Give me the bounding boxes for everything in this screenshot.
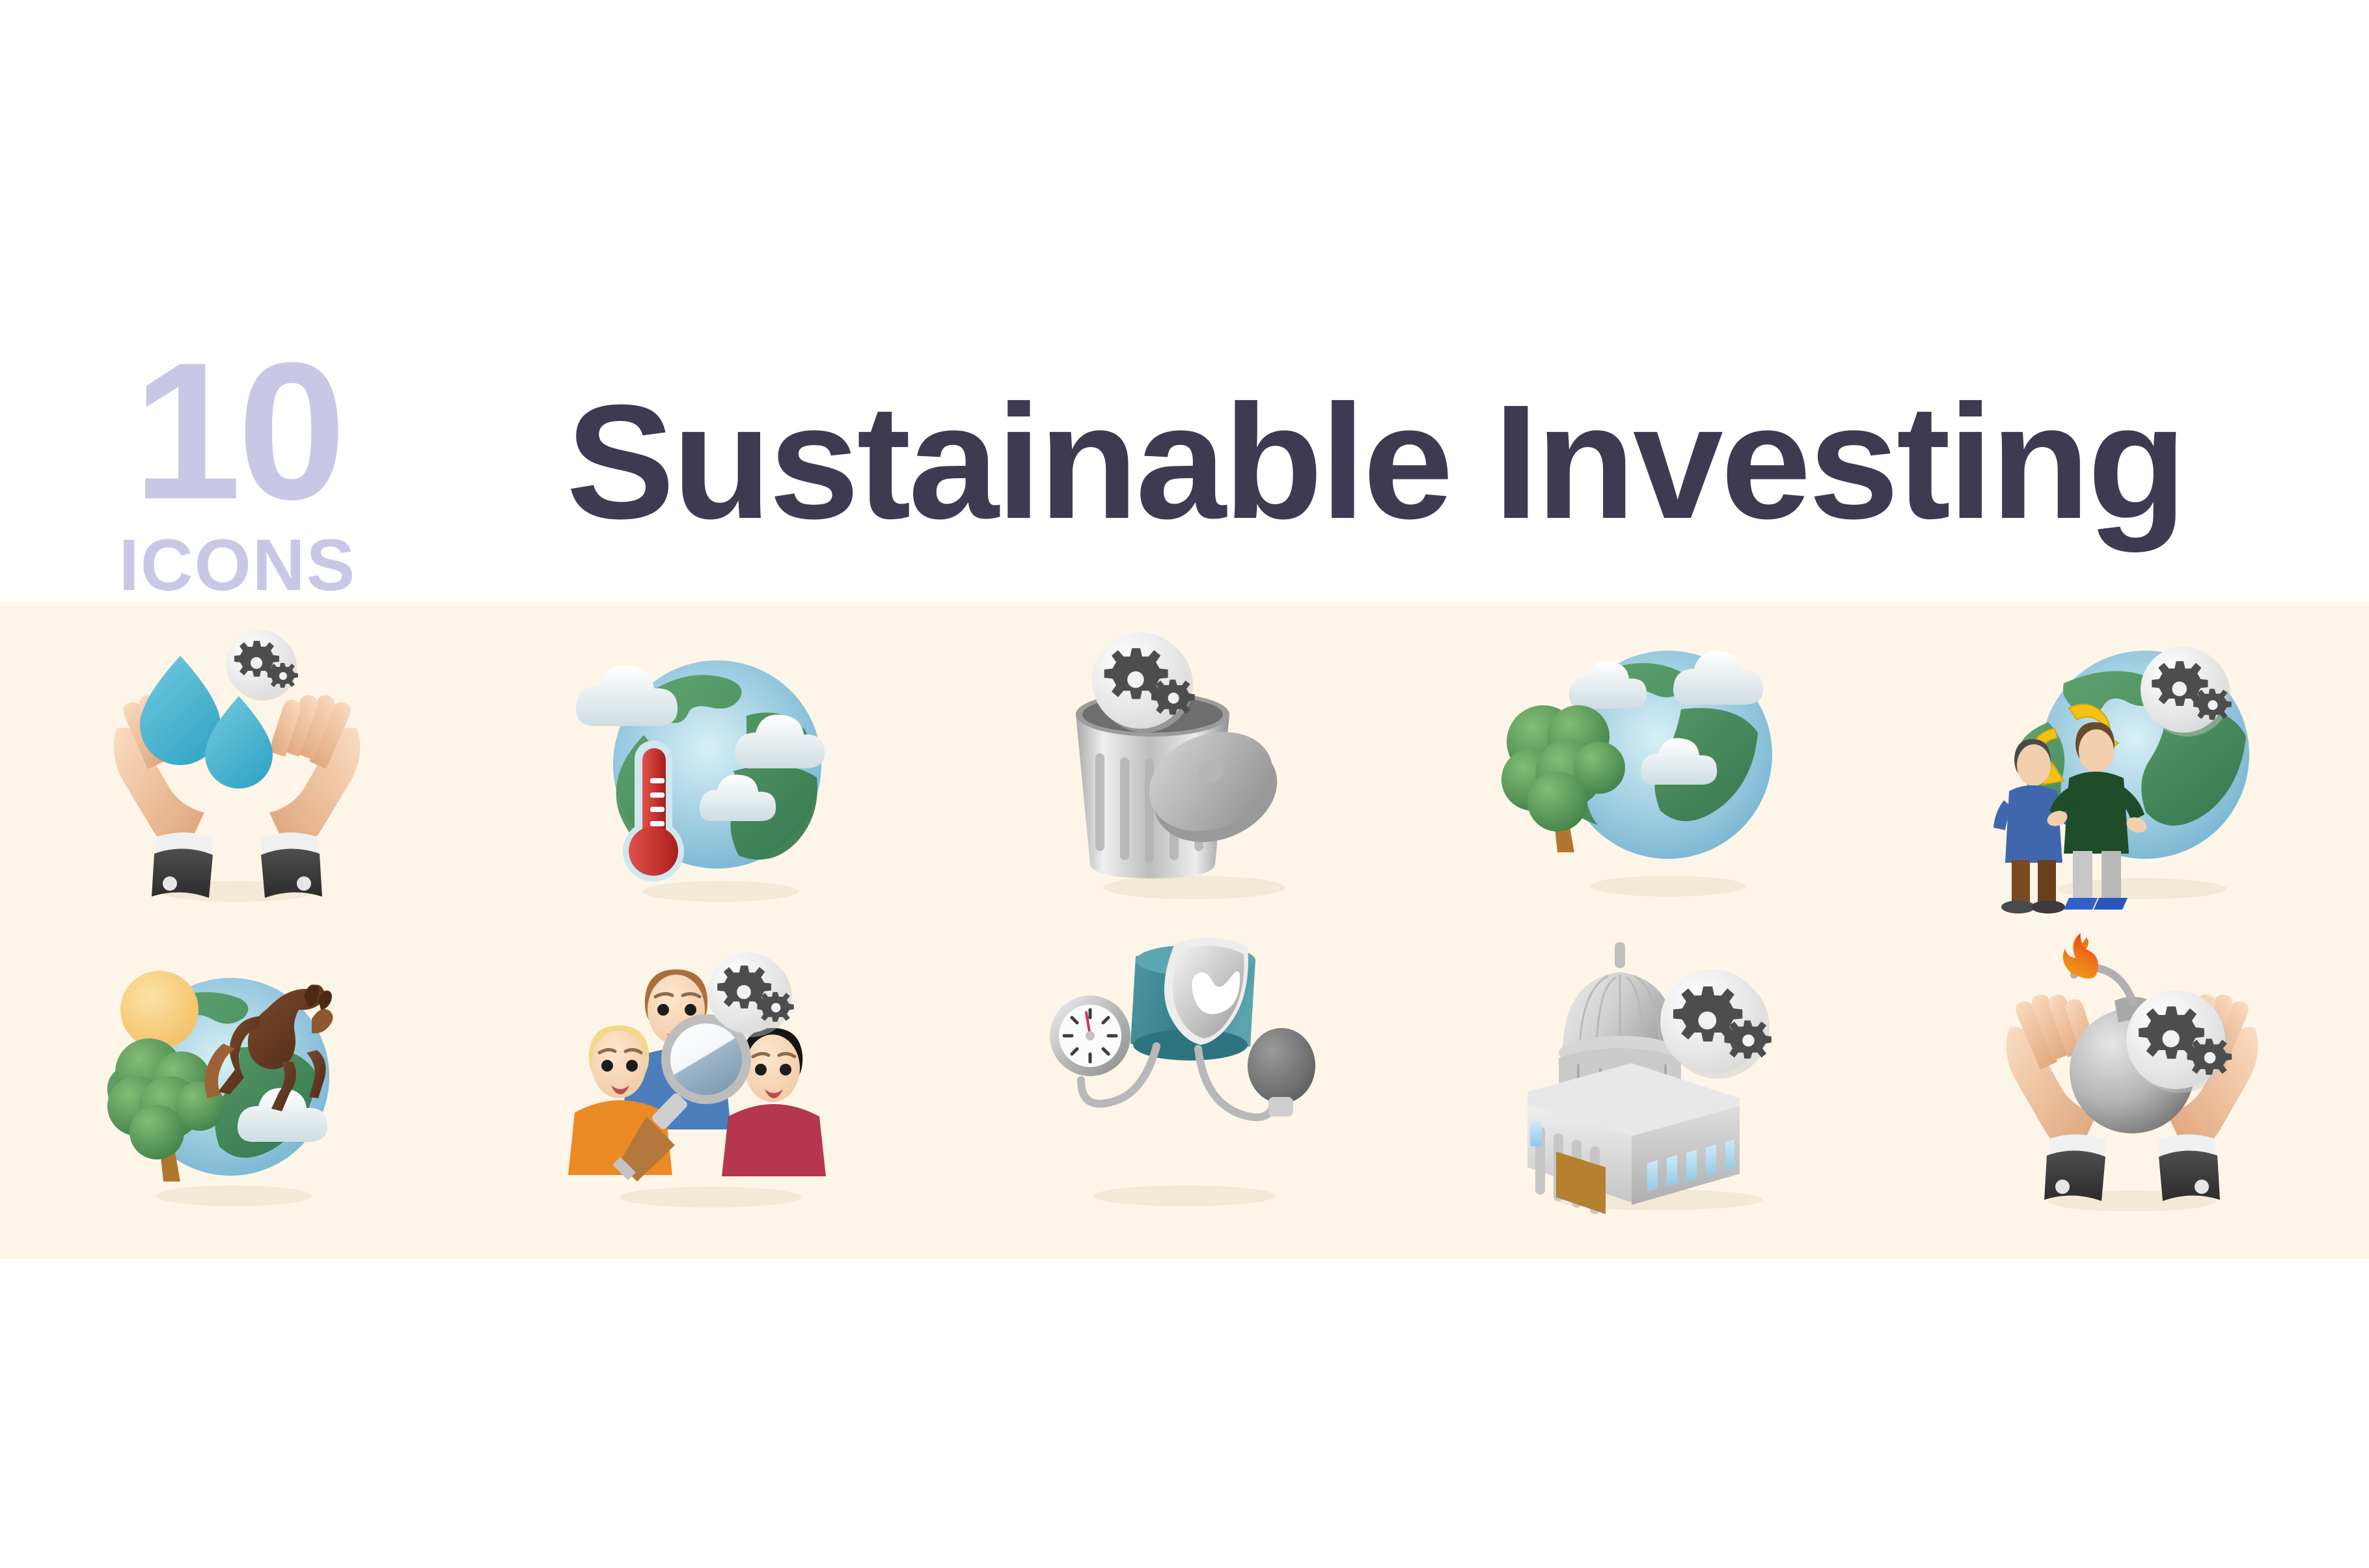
globe-thermometer-clouds-icon bbox=[571, 631, 851, 911]
icon-set-band bbox=[0, 602, 2369, 1259]
icon-cell-health-safety[interactable] bbox=[948, 924, 1421, 1230]
icon-cell-climate-change[interactable] bbox=[474, 618, 948, 924]
page-title: Sustainable Investing bbox=[566, 381, 2271, 543]
icon-count-number: 10 bbox=[98, 355, 377, 507]
hands-holding-bomb-icon bbox=[1992, 937, 2272, 1217]
handshake-globe-recycle-icon bbox=[1992, 631, 2272, 911]
capitol-government-building-icon bbox=[1518, 937, 1798, 1217]
icon-cell-biodiversity[interactable] bbox=[0, 924, 474, 1230]
footer-whitespace bbox=[0, 1259, 2369, 1568]
icon-count-label: ICONS bbox=[98, 529, 377, 602]
globe-sun-tree-horse-icon bbox=[97, 937, 377, 1217]
blood-pressure-monitor-shield-icon bbox=[1045, 937, 1324, 1217]
gear-badge-icon bbox=[226, 630, 298, 701]
icon-cell-water-conservation[interactable] bbox=[0, 618, 474, 924]
hands-holding-water-drops-icon bbox=[97, 631, 377, 911]
trash-can-with-lid-icon bbox=[1045, 631, 1324, 911]
icon-cell-waste-management[interactable] bbox=[948, 618, 1421, 924]
icon-cell-social-diversity[interactable] bbox=[474, 924, 948, 1230]
icon-cell-governance[interactable] bbox=[1421, 924, 1895, 1230]
globe-with-tree-clouds-icon bbox=[1518, 631, 1798, 911]
icon-count-block: 10 ICONS bbox=[98, 355, 377, 602]
icon-cell-reforestation[interactable] bbox=[1421, 618, 1895, 924]
icon-cell-global-partnership[interactable] bbox=[1895, 618, 2369, 924]
people-magnifying-glass-icon bbox=[571, 937, 851, 1217]
icon-row-bottom bbox=[0, 924, 2369, 1230]
icon-cell-risk-management[interactable] bbox=[1895, 924, 2369, 1230]
header-banner: 10 ICONS Sustainable Investing bbox=[0, 0, 2369, 602]
icon-row-top bbox=[0, 618, 2369, 924]
